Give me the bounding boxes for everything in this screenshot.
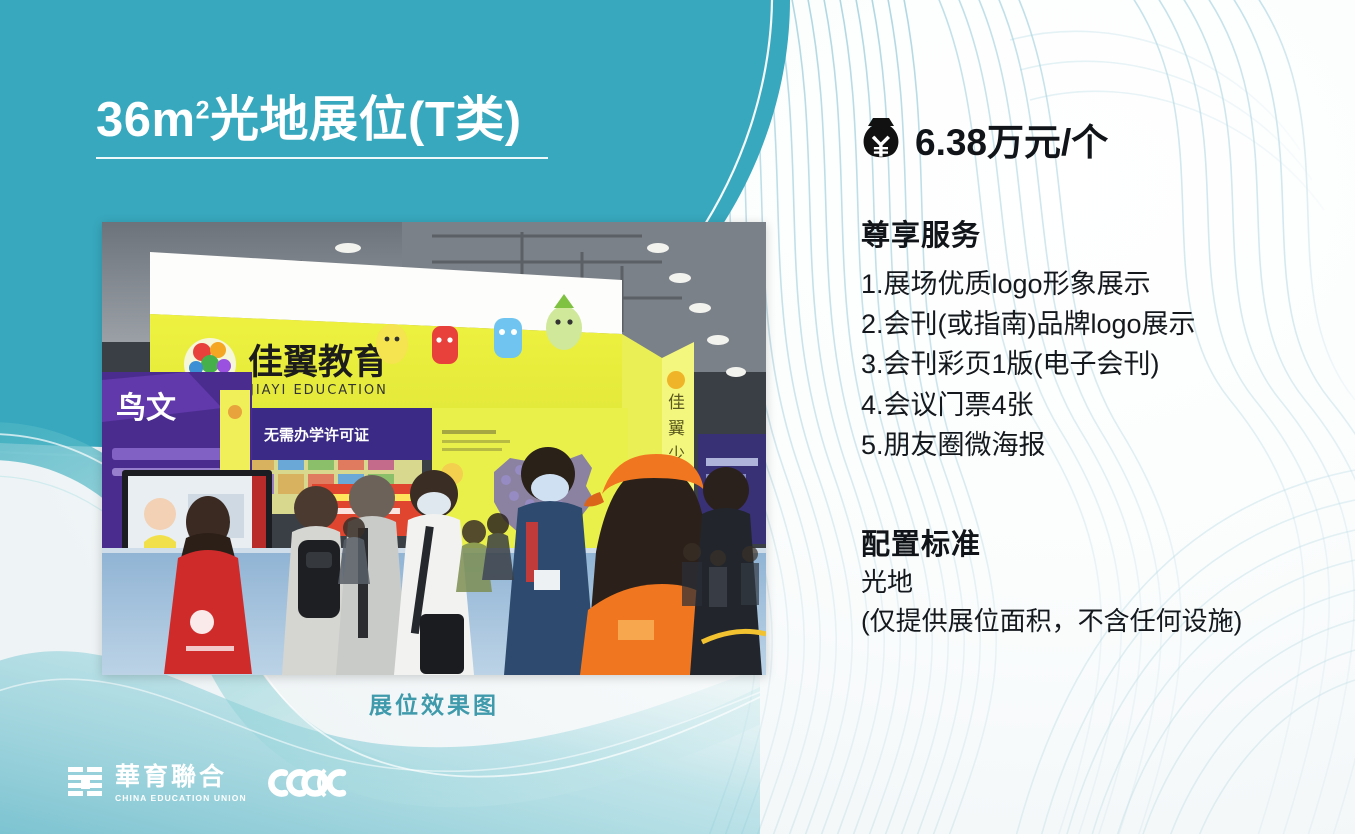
china-education-union-logo: 華育聯合 CHINA EDUCATION UNION bbox=[68, 765, 247, 803]
config-line: (仅提供展位面积，不含任何设施) bbox=[861, 602, 1321, 640]
config-line: 光地 bbox=[861, 563, 1321, 601]
title-area-number: 36 bbox=[96, 93, 152, 147]
booth-photo: 佳翼教育 JIAYI EDUCATION 佳翼少 儿美术 bbox=[102, 222, 766, 675]
services-list: 1.展场优质logo形象展示 2.会刊(或指南)品牌logo展示 3.会刊彩页1… bbox=[861, 264, 1321, 465]
booth-photo-illustration: 佳翼教育 JIAYI EDUCATION 佳翼少 儿美术 bbox=[102, 222, 766, 675]
config-heading: 配置标准 bbox=[861, 521, 1321, 563]
title-unit-m: m bbox=[152, 93, 196, 147]
title-suffix: 光地展位(T类) bbox=[210, 93, 522, 147]
details-column: 6.38万元/个 尊享服务 1.展场优质logo形象展示 2.会刊(或指南)品牌… bbox=[861, 112, 1321, 640]
slide-title-block: 36m2光地展位(T类) bbox=[96, 92, 716, 159]
title-unit-superscript: 2 bbox=[196, 97, 210, 125]
price-row: 6.38万元/个 bbox=[861, 112, 1321, 166]
service-item: 5.朋友圈微海报 bbox=[861, 425, 1321, 465]
svg-text:鸟文: 鸟文 bbox=[116, 391, 176, 426]
service-item: 1.展场优质logo形象展示 bbox=[861, 264, 1321, 304]
service-item: 2.会刊(或指南)品牌logo展示 bbox=[861, 304, 1321, 344]
svg-text:翼: 翼 bbox=[668, 419, 685, 439]
svg-text:无需办学许可证: 无需办学许可证 bbox=[263, 426, 369, 444]
logo-bars-icon bbox=[68, 766, 104, 800]
svg-text:佳翼教育: 佳翼教育 bbox=[248, 343, 388, 383]
service-item: 4.会议门票4张 bbox=[861, 385, 1321, 425]
page-title: 36m2光地展位(T类) bbox=[96, 92, 716, 148]
footer-logo-group: 華育聯合 CHINA EDUCATION UNION bbox=[68, 765, 350, 803]
money-bag-icon bbox=[861, 116, 901, 162]
logo-name-cn: 華育聯合 bbox=[115, 765, 247, 790]
title-underline bbox=[96, 157, 548, 159]
service-item: 3.会刊彩页1版(电子会刊) bbox=[861, 344, 1321, 384]
svg-text:JIAYI EDUCATION: JIAYI EDUCATION bbox=[249, 383, 388, 398]
photo-caption: 展位效果图 bbox=[102, 686, 766, 720]
slide-root: 36m2光地展位(T类) bbox=[0, 0, 1355, 834]
logo-name-en: CHINA EDUCATION UNION bbox=[115, 794, 247, 803]
price-value: 6.38万元/个 bbox=[915, 112, 1108, 166]
svg-text:佳: 佳 bbox=[668, 393, 685, 413]
ccic-logo-icon bbox=[265, 766, 350, 800]
services-heading: 尊享服务 bbox=[861, 212, 1321, 254]
